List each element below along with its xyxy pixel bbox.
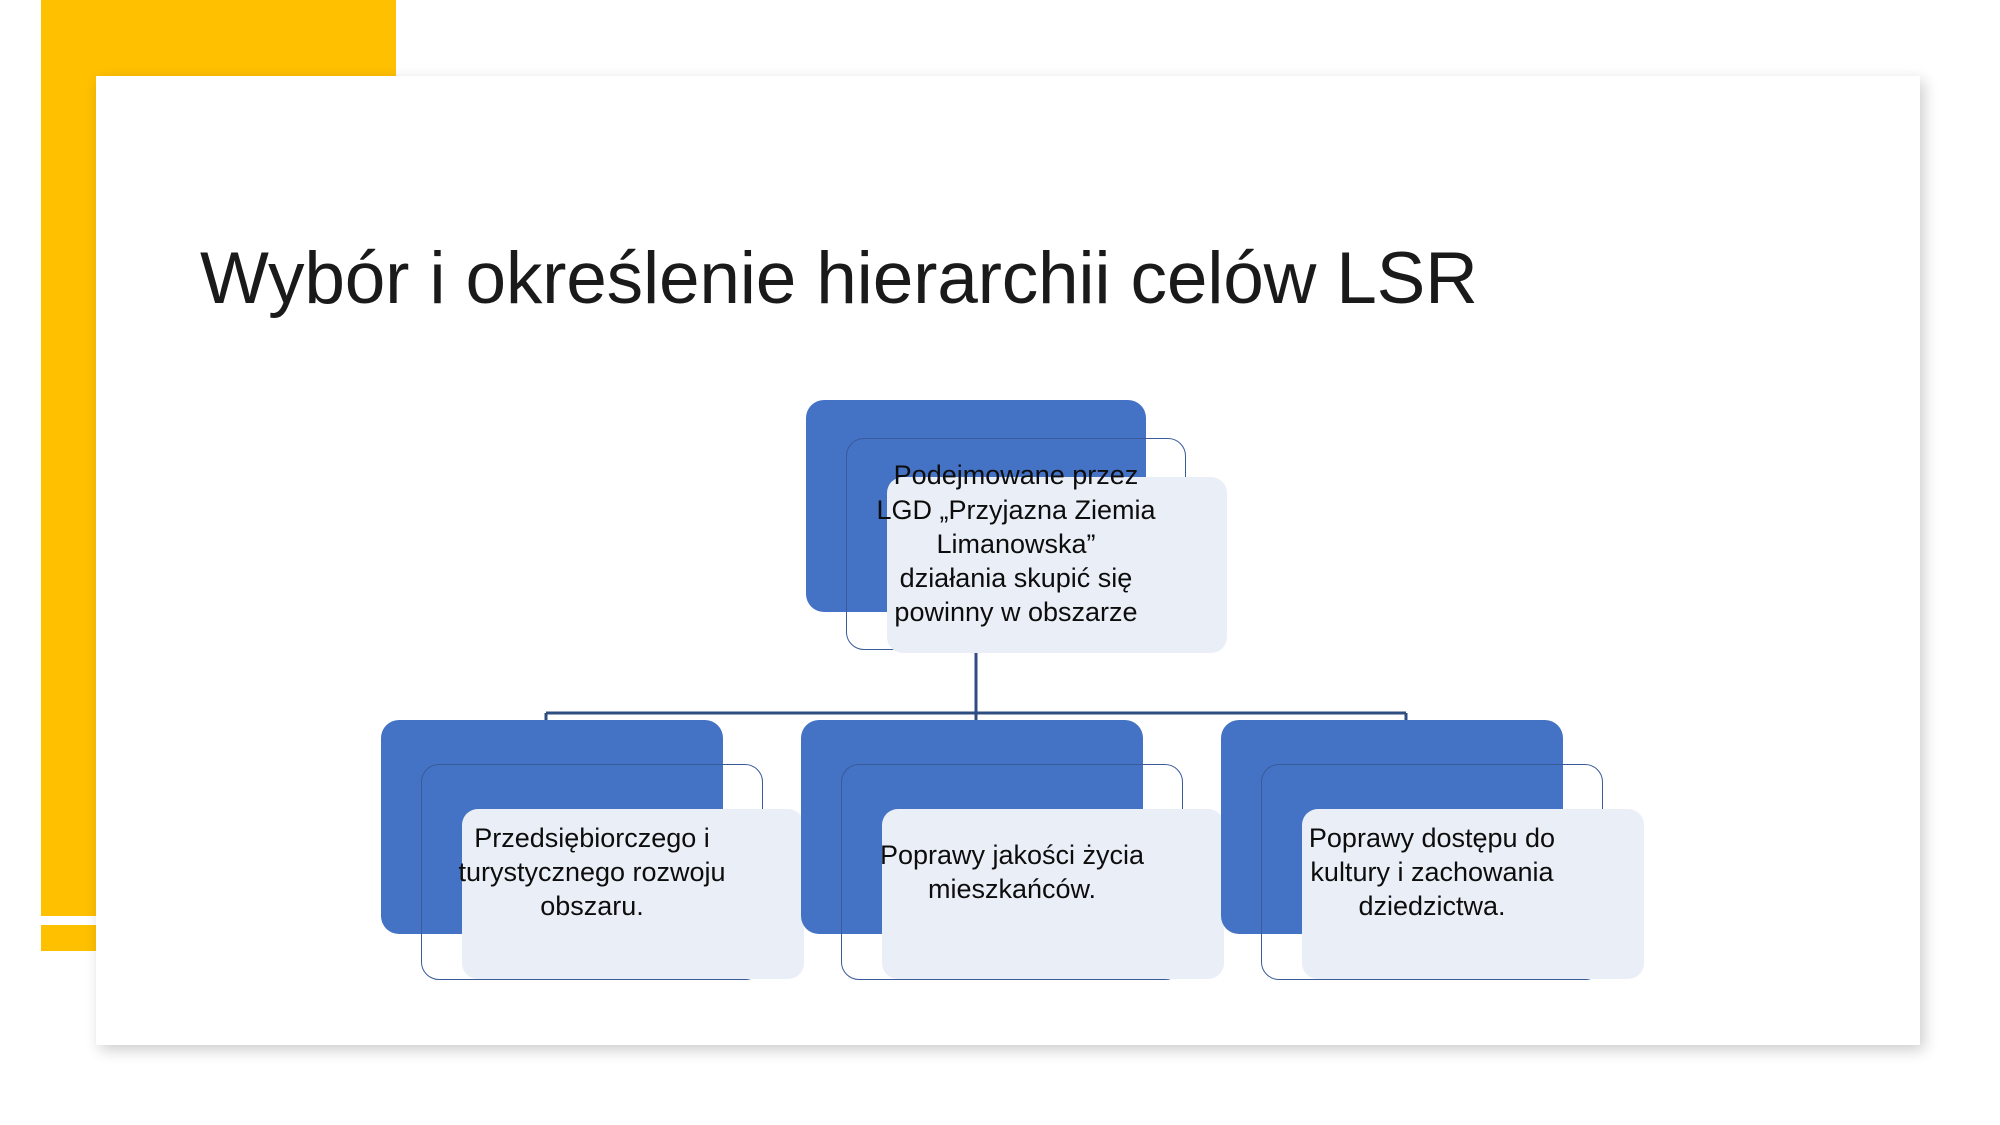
accent-bar-vertical-stub — [41, 925, 96, 951]
hierarchy-node-child-1[interactable]: Przedsiębiorczego i turystycznego rozwoj… — [381, 720, 763, 980]
node-card-child-2: Poprawy jakości życia mieszkańców. — [841, 764, 1183, 980]
hierarchy-node-child-3[interactable]: Poprawy dostępu do kultury i zachowania … — [1221, 720, 1603, 980]
node-card-child-3: Poprawy dostępu do kultury i zachowania … — [1261, 764, 1603, 980]
hierarchy-node-root[interactable]: Podejmowane przez LGD „Przyjazna Ziemia … — [806, 400, 1186, 650]
node-label-child-2: Poprawy jakości życia mieszkańców. — [870, 838, 1154, 907]
node-label-child-1: Przedsiębiorczego i turystycznego rozwoj… — [448, 821, 735, 924]
node-label-root: Podejmowane przez LGD „Przyjazna Ziemia … — [866, 458, 1165, 629]
accent-bar-vertical — [41, 0, 96, 916]
node-label-child-3: Poprawy dostępu do kultury i zachowania … — [1299, 821, 1565, 924]
page-title: Wybór i określenie hierarchii celów LSR — [200, 238, 1700, 320]
hierarchy-node-child-2[interactable]: Poprawy jakości życia mieszkańców. — [801, 720, 1183, 980]
node-card-root: Podejmowane przez LGD „Przyjazna Ziemia … — [846, 438, 1186, 650]
node-card-child-1: Przedsiębiorczego i turystycznego rozwoj… — [421, 764, 763, 980]
slide-root: Wybór i określenie hierarchii celów LSR … — [0, 0, 2000, 1125]
